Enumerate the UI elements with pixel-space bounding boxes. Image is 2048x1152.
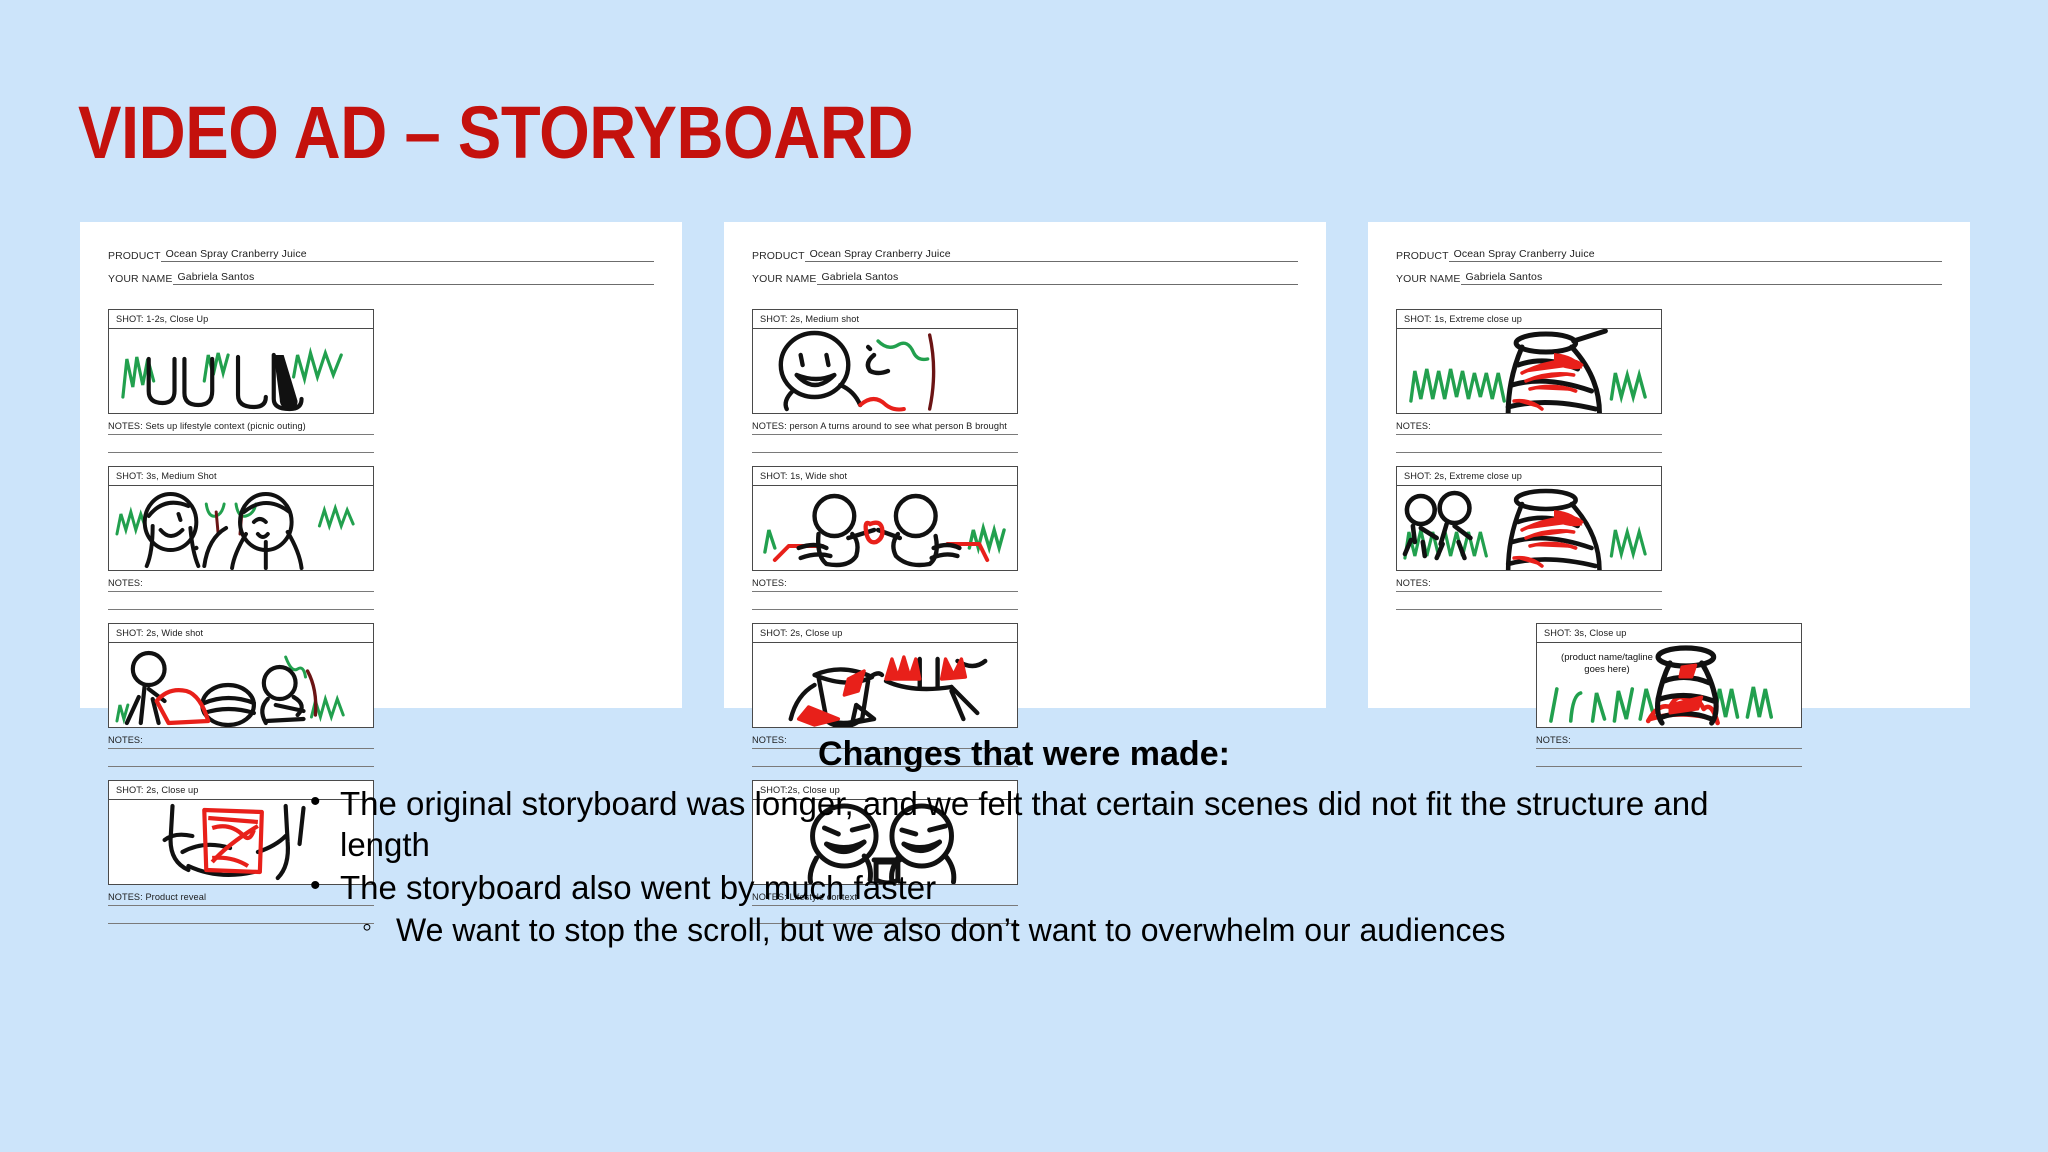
panel-shot-label: SHOT: 2s, Medium shot	[753, 310, 1017, 329]
note-rule	[108, 591, 374, 592]
panel-frame: SHOT: 1-2s, Close Up	[108, 309, 374, 414]
panel-shot-label: SHOT: 2s, Wide shot	[109, 624, 373, 643]
changes-section: Changes that were made: The original sto…	[0, 735, 2048, 952]
panel-grid: SHOT: 1s, Extreme close up	[1396, 309, 1942, 767]
panel-frame: SHOT: 2s, Wide shot	[108, 623, 374, 728]
panel-frame: SHOT: 1s, Extreme close up	[1396, 309, 1662, 414]
tagline-line-2: goes here)	[1584, 664, 1629, 675]
product-value: Ocean Spray Cranberry Juice	[161, 248, 654, 262]
note-rule	[752, 591, 1018, 592]
note-rule	[108, 452, 374, 453]
your-name-label: YOUR NAME	[108, 273, 173, 285]
note-rule	[1396, 434, 1662, 435]
sketch-picnic-blanket-basket-icon	[109, 643, 373, 727]
storyboard-panel: SHOT: 1s, Extreme close up	[1396, 309, 1662, 453]
panel-shot-label: SHOT: 1s, Wide shot	[753, 467, 1017, 486]
panel-notes: NOTES:	[752, 571, 1018, 588]
sketch-two-people-passing-cup-icon	[753, 486, 1017, 570]
sketch-bottle-with-people-icon	[1397, 486, 1661, 570]
list-item: The storyboard also went by much faster	[300, 868, 1720, 909]
storyboard-card-row: PRODUCT Ocean Spray Cranberry Juice YOUR…	[80, 222, 1970, 708]
product-line: PRODUCT Ocean Spray Cranberry Juice	[1396, 248, 1942, 262]
panel-shot-label: SHOT: 1s, Extreme close up	[1397, 310, 1661, 329]
panel-frame: SHOT: 3s, Medium Shot	[108, 466, 374, 571]
panel-shot-label: SHOT: 3s, Medium Shot	[109, 467, 373, 486]
changes-bullet-list: The original storyboard was longer, and …	[300, 784, 1720, 950]
panel-notes: NOTES: person A turns around to see what…	[752, 414, 1018, 431]
sketch-legs-in-grass-icon	[109, 329, 373, 413]
storyboard-card: PRODUCT Ocean Spray Cranberry Juice YOUR…	[724, 222, 1326, 708]
storyboard-panel: SHOT: 2s, Medium shot	[752, 309, 1018, 453]
sketch-person-turning-icon	[753, 329, 1017, 413]
product-label: PRODUCT	[752, 250, 805, 262]
panel-notes: NOTES: Sets up lifestyle context (picnic…	[108, 414, 374, 431]
panel-notes: NOTES:	[1396, 414, 1662, 431]
storyboard-card: PRODUCT Ocean Spray Cranberry Juice YOUR…	[1368, 222, 1970, 708]
product-line: PRODUCT Ocean Spray Cranberry Juice	[752, 248, 1298, 262]
sketch-bottle-in-grass-icon	[1397, 329, 1661, 413]
panel-frame: SHOT: 2s, Medium shot	[752, 309, 1018, 414]
storyboard-panel: SHOT: 1s, Wide shot	[752, 466, 1018, 610]
note-rule	[1396, 452, 1662, 453]
sketch-pouring-juice-icon	[753, 643, 1017, 727]
your-name-label: YOUR NAME	[752, 273, 817, 285]
product-label: PRODUCT	[108, 250, 161, 262]
sketch-two-friends-talking-icon	[109, 486, 373, 570]
panel-notes: NOTES:	[108, 571, 374, 588]
your-name-line: YOUR NAME Gabriela Santos	[1396, 271, 1942, 285]
storyboard-panel: SHOT: 2s, Extreme close up	[1396, 466, 1662, 610]
sheet-header: PRODUCT Ocean Spray Cranberry Juice YOUR…	[752, 248, 1298, 285]
product-value: Ocean Spray Cranberry Juice	[1449, 248, 1942, 262]
changes-heading: Changes that were made:	[0, 735, 2048, 774]
note-rule	[752, 452, 1018, 453]
panel-frame: SHOT: 3s, Close up (product name/tagline…	[1536, 623, 1802, 728]
your-name-line: YOUR NAME Gabriela Santos	[752, 271, 1298, 285]
sheet-header: PRODUCT Ocean Spray Cranberry Juice YOUR…	[1396, 248, 1942, 285]
panel-shot-label: SHOT: 2s, Close up	[753, 624, 1017, 643]
note-rule	[752, 434, 1018, 435]
storyboard-card: PRODUCT Ocean Spray Cranberry Juice YOUR…	[80, 222, 682, 708]
sheet-header: PRODUCT Ocean Spray Cranberry Juice YOUR…	[108, 248, 654, 285]
panel-notes: NOTES:	[1396, 571, 1662, 588]
your-name-value: Gabriela Santos	[817, 271, 1299, 285]
sketch-bottle-tagline-icon: (product name/tagline goes here)	[1537, 643, 1801, 727]
your-name-value: Gabriela Santos	[1461, 271, 1943, 285]
your-name-line: YOUR NAME Gabriela Santos	[108, 271, 654, 285]
panel-frame: SHOT: 1s, Wide shot	[752, 466, 1018, 571]
note-rule	[108, 434, 374, 435]
tagline-line-1: (product name/tagline	[1561, 652, 1653, 663]
list-item: We want to stop the scroll, but we also …	[300, 911, 1720, 951]
panel-frame: SHOT: 2s, Extreme close up	[1396, 466, 1662, 571]
tagline-placeholder-text: (product name/tagline goes here)	[1547, 652, 1667, 676]
note-rule	[1396, 609, 1662, 610]
storyboard-panel: SHOT: 3s, Medium Shot	[108, 466, 374, 610]
note-rule	[1396, 591, 1662, 592]
storyboard-panel: SHOT: 1-2s, Close Up	[108, 309, 374, 453]
panel-shot-label: SHOT: 2s, Extreme close up	[1397, 467, 1661, 486]
note-rule	[108, 609, 374, 610]
your-name-label: YOUR NAME	[1396, 273, 1461, 285]
list-item: The original storyboard was longer, and …	[300, 784, 1720, 866]
panel-frame: SHOT: 2s, Close up	[752, 623, 1018, 728]
note-rule	[752, 609, 1018, 610]
product-label: PRODUCT	[1396, 250, 1449, 262]
page-title: VIDEO AD – STORYBOARD	[78, 90, 913, 175]
product-value: Ocean Spray Cranberry Juice	[805, 248, 1298, 262]
panel-shot-label: SHOT: 1-2s, Close Up	[109, 310, 373, 329]
product-line: PRODUCT Ocean Spray Cranberry Juice	[108, 248, 654, 262]
panel-shot-label: SHOT: 3s, Close up	[1537, 624, 1801, 643]
your-name-value: Gabriela Santos	[173, 271, 655, 285]
